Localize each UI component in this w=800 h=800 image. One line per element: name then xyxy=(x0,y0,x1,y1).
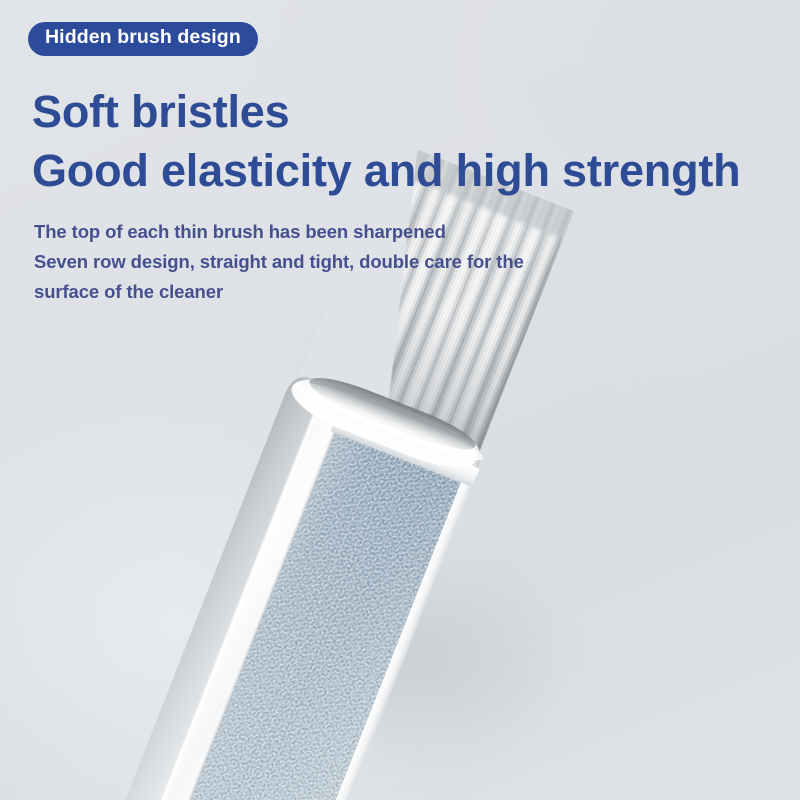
subcopy-line-3: surface of the cleaner xyxy=(34,277,788,307)
product-feature-poster: Hidden brush design Soft bristles Good e… xyxy=(0,0,800,800)
headline-line-2: Good elasticity and high strength xyxy=(32,148,788,193)
headline-line-1: Soft bristles xyxy=(32,89,788,134)
subcopy-line-1: The top of each thin brush has been shar… xyxy=(34,217,788,247)
feature-badge: Hidden brush design xyxy=(28,22,258,56)
copy-block: Hidden brush design Soft bristles Good e… xyxy=(28,22,788,307)
subcopy-line-2: Seven row design, straight and tight, do… xyxy=(34,247,788,277)
subcopy-block: The top of each thin brush has been shar… xyxy=(34,217,788,307)
